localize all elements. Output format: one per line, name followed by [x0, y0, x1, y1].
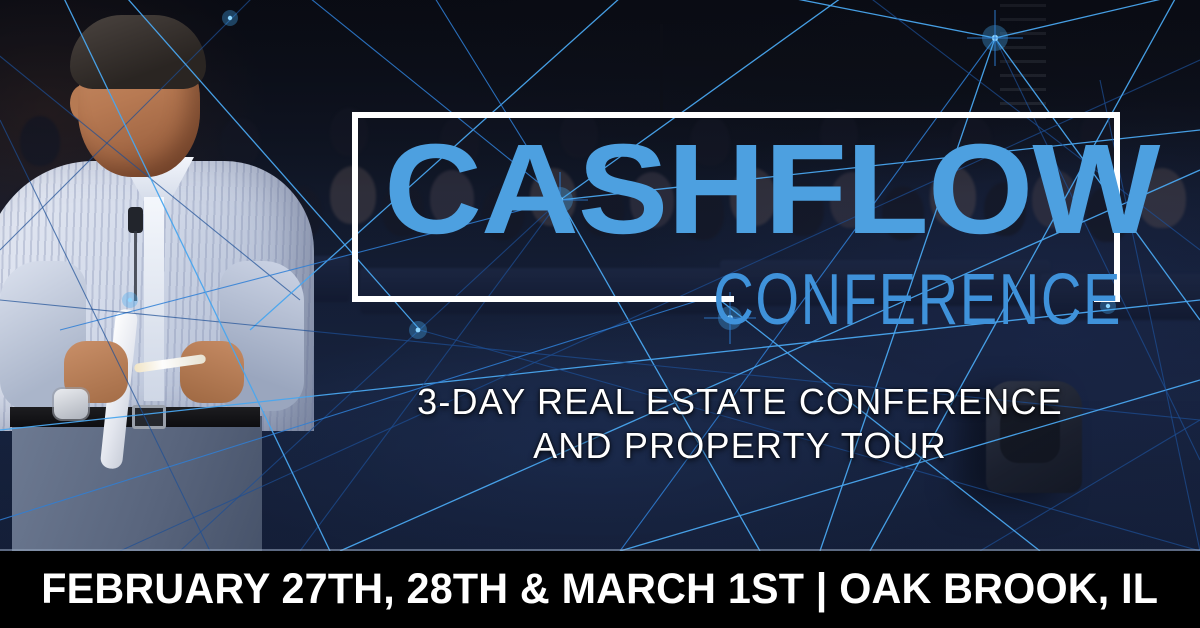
logo-subtitle: CONFERENCE: [713, 264, 1122, 336]
belt-buckle: [132, 405, 166, 429]
frame-border-left: [352, 112, 358, 302]
speaker-right-hand: [180, 341, 244, 403]
logo-title: CASHFLOW: [384, 126, 1132, 254]
logo-lockup: CASHFLOW CONFERENCE: [352, 112, 1120, 302]
tagline-line-1: 3-DAY REAL ESTATE CONFERENCE: [340, 380, 1140, 424]
wristwatch: [54, 389, 88, 419]
camera-tripod: [660, 18, 663, 114]
speaker-photo: [0, 11, 322, 551]
lapel-microphone: [128, 207, 143, 233]
event-promo-banner: CASHFLOW CONFERENCE 3-DAY REAL ESTATE CO…: [0, 0, 1200, 628]
speaker-trousers: [12, 416, 262, 556]
speaker-hair: [70, 15, 206, 89]
footer-details: FEBRUARY 27TH, 28TH & MARCH 1ST | OAK BR…: [42, 565, 1159, 614]
frame-border-bottom-left: [352, 296, 734, 302]
stage-truss: [1000, 4, 1046, 124]
event-tagline: 3-DAY REAL ESTATE CONFERENCE AND PROPERT…: [340, 380, 1140, 468]
footer-bar: FEBRUARY 27TH, 28TH & MARCH 1ST | OAK BR…: [0, 551, 1200, 628]
tagline-line-2: AND PROPERTY TOUR: [340, 424, 1140, 468]
